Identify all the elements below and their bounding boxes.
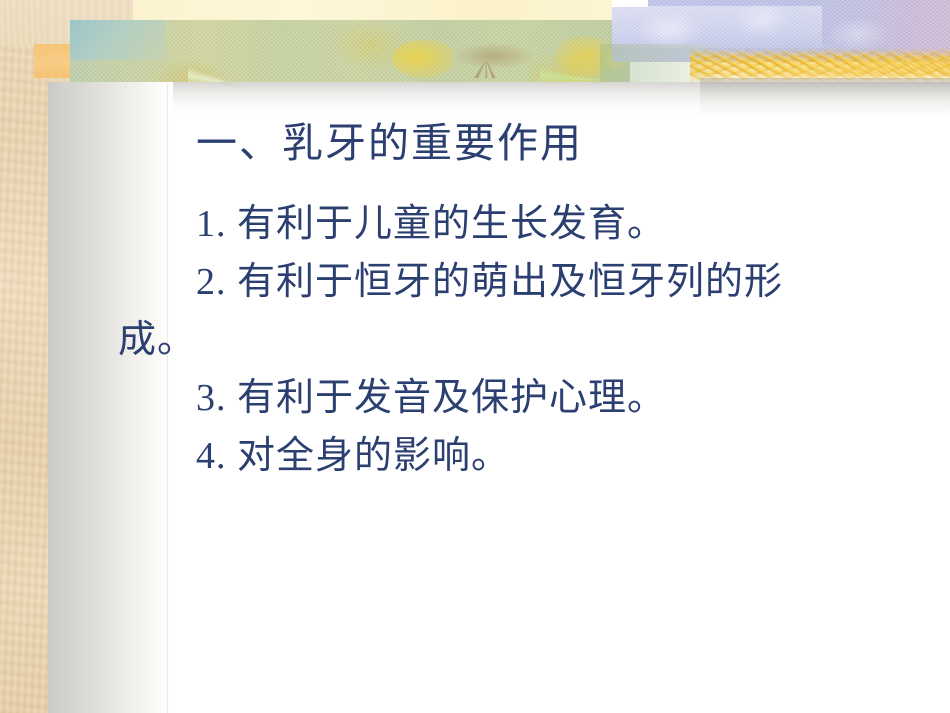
presentation-slide: 一、乳牙的重要作用 1. 有利于儿童的生长发育。 2. 有利于恒牙的萌出及恒牙列… xyxy=(0,0,950,713)
list-item: 2. 有利于恒牙的萌出及恒牙列的形 xyxy=(118,253,918,311)
list-item: 3. 有利于发音及保护心理。 xyxy=(118,369,918,427)
slide-content: 一、乳牙的重要作用 1. 有利于儿童的生长发育。 2. 有利于恒牙的萌出及恒牙列… xyxy=(0,0,950,713)
list-item: 1. 有利于儿童的生长发育。 xyxy=(118,195,918,253)
body-text-list: 1. 有利于儿童的生长发育。 2. 有利于恒牙的萌出及恒牙列的形 成。 3. 有… xyxy=(118,195,918,485)
list-item-continuation: 成。 xyxy=(118,311,918,369)
page-title: 一、乳牙的重要作用 xyxy=(196,119,896,167)
list-item: 4. 对全身的影响。 xyxy=(118,427,918,485)
